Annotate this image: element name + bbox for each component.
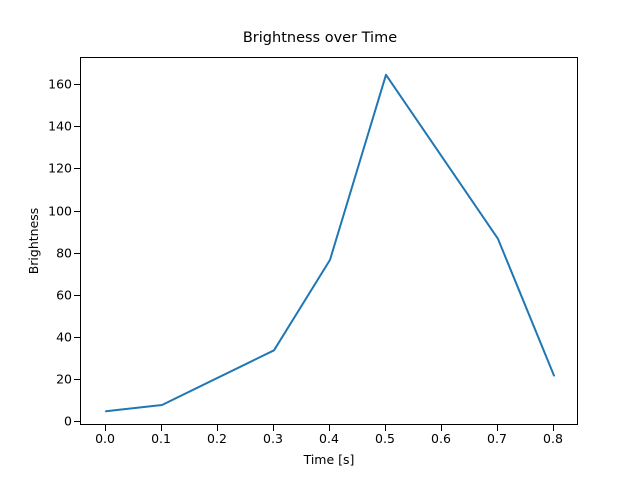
y-tick-label: 120	[48, 161, 72, 176]
chart-figure: Brightness over Time Brightness 02040608…	[0, 0, 640, 480]
x-tick-label: 0.7	[487, 431, 507, 446]
y-tick-label: 20	[56, 371, 72, 386]
x-tick-label: 0.1	[151, 431, 171, 446]
x-tick-label: 0.4	[319, 431, 339, 446]
x-axis-tick-labels: 0.00.10.20.30.40.50.60.70.8	[80, 431, 578, 451]
y-tick-label: 160	[48, 77, 72, 92]
brightness-line	[106, 75, 554, 411]
y-tick-label: 80	[56, 245, 72, 260]
x-tick-label: 0.8	[543, 431, 563, 446]
x-tick-label: 0.2	[207, 431, 227, 446]
y-axis-tick-labels: 020406080100120140160	[0, 57, 72, 425]
plot-area	[80, 57, 578, 425]
y-tick-label: 100	[48, 203, 72, 218]
data-line-svg	[81, 58, 579, 426]
x-tick-label: 0.5	[375, 431, 395, 446]
x-axis-label: Time [s]	[80, 452, 578, 467]
chart-title: Brightness over Time	[0, 30, 640, 46]
y-tick-label: 140	[48, 119, 72, 134]
x-tick-label: 0.3	[263, 431, 283, 446]
y-tick-label: 40	[56, 329, 72, 344]
x-tick-label: 0.0	[95, 431, 115, 446]
x-tick-label: 0.6	[431, 431, 451, 446]
y-tick-label: 60	[56, 287, 72, 302]
y-tick-label: 0	[64, 413, 72, 428]
